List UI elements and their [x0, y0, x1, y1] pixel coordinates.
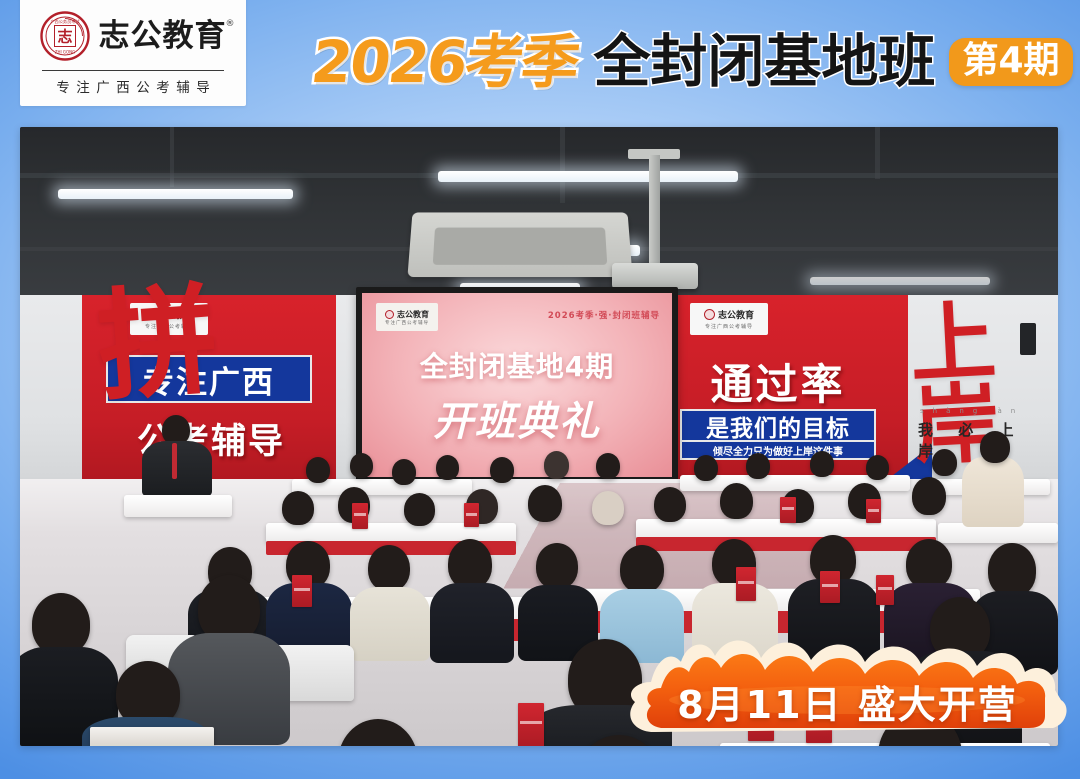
- svg-text:志: 志: [57, 28, 72, 46]
- seal-icon: [385, 310, 394, 319]
- brand-name: 志公教育 ®: [99, 21, 227, 52]
- student-head: [654, 487, 686, 522]
- student-head: [596, 453, 620, 479]
- headline-main: 全封闭基地班: [593, 34, 935, 91]
- tube-light: [438, 171, 738, 182]
- mural-right-pinyin: shàng àn: [920, 407, 1024, 415]
- gift-box: [780, 497, 796, 523]
- student-head: [932, 449, 957, 476]
- wall-right-line2: 是我们的目标: [680, 409, 876, 442]
- brand-logo-row: 广西公务员考试 志 ZHI GONG 志公教育 ®: [40, 8, 227, 64]
- student-head: [620, 545, 664, 593]
- gift-box: [866, 499, 881, 523]
- registered-mark: ®: [226, 20, 236, 29]
- brand-tagline: 专注广西公考辅导: [50, 76, 217, 96]
- slide-subtitle: 开班典礼: [362, 389, 672, 447]
- student-head: [592, 491, 624, 525]
- slide: 志公教育 专注广西公考辅导 2026考季·强·封闭班辅导 全封闭基地4期 开班典…: [362, 293, 672, 477]
- student-head: [368, 545, 410, 591]
- slide-logo-sub: 专注广西公考辅导: [385, 320, 429, 326]
- banner-logo-sub: 专注广西公考辅导: [705, 323, 753, 330]
- mural-left-text: 拼: [94, 283, 222, 405]
- student-head: [810, 451, 834, 477]
- student-head: [404, 493, 435, 526]
- desk-skirt: [636, 537, 936, 551]
- slide-title: 全封闭基地4期: [362, 345, 672, 385]
- gift-box: [820, 571, 840, 603]
- student-head: [306, 457, 330, 483]
- student-head: [544, 451, 569, 479]
- student-head: [536, 543, 578, 589]
- slide-corner-tagline: 2026考季·强·封闭班辅导: [548, 309, 660, 321]
- student-head: [694, 455, 718, 481]
- student-head: [746, 453, 770, 479]
- projector-mount-pole: [649, 155, 660, 267]
- slide-logo: 志公教育 专注广西公考辅导: [376, 303, 438, 331]
- student-head: [988, 543, 1036, 597]
- student-body: [430, 583, 514, 663]
- student-head: [392, 459, 416, 485]
- projector-screen: 志公教育 专注广西公考辅导 2026考季·强·封闭班辅导 全封闭基地4期 开班典…: [356, 287, 678, 483]
- student-head: [448, 539, 492, 589]
- tube-light: [810, 277, 990, 285]
- headline-year: 2026考季: [308, 33, 581, 91]
- wall-right-line1: 通过率: [678, 351, 878, 412]
- podium-desk: [124, 495, 232, 517]
- student-head: [436, 455, 459, 480]
- seal-icon: [704, 309, 715, 320]
- student-head: [32, 593, 90, 655]
- banner-logo-name: 志公教育: [718, 308, 754, 321]
- footer-badge-label: 8月11日 盛大开营: [615, 628, 1080, 754]
- student-head: [528, 485, 562, 522]
- gift-box: [518, 703, 544, 746]
- headline-edition-badge: 第4期: [949, 38, 1072, 86]
- instructor-body: [142, 441, 212, 497]
- student-body: [350, 587, 430, 661]
- student-head: [866, 455, 889, 480]
- svg-text:广西公务员考试: 广西公务员考试: [50, 18, 80, 25]
- wall-sensor: [1020, 323, 1036, 355]
- circular-red-seal-icon: 广西公务员考试 志 ZHI GONG: [40, 11, 90, 61]
- brand-name-text: 志公教育: [99, 18, 227, 54]
- banner-logo-right: 志公教育 专注广西公考辅导: [690, 303, 768, 335]
- projector: [612, 263, 698, 289]
- air-conditioner-unit: [407, 212, 632, 277]
- student-head: [350, 453, 373, 478]
- poster-canvas: 广西公务员考试 志 ZHI GONG 志公教育 ® 专注广西公考辅导 2026考…: [0, 0, 1080, 779]
- brand-logo-box: 广西公务员考试 志 ZHI GONG 志公教育 ® 专注广西公考辅导: [20, 0, 246, 106]
- student-head: [720, 483, 753, 519]
- svg-text:ZHI GONG: ZHI GONG: [54, 50, 75, 55]
- student-body: [962, 457, 1024, 527]
- tube-light: [58, 189, 293, 199]
- footer-badge: 8月11日 盛大开营: [615, 628, 1080, 754]
- stacked-books: [90, 727, 214, 746]
- divider: [42, 70, 224, 71]
- gift-box: [352, 503, 368, 529]
- student-head: [980, 431, 1010, 463]
- slide-logo-name: 志公教育: [397, 309, 429, 320]
- page-title: 2026考季 全封闭基地班 第4期: [312, 26, 1073, 98]
- student-head: [906, 539, 952, 589]
- student-head: [282, 491, 314, 525]
- gift-box: [736, 567, 756, 601]
- gift-box: [876, 575, 894, 605]
- instructor-lanyard: [172, 443, 177, 479]
- student-head: [912, 477, 946, 515]
- student-head: [490, 457, 514, 483]
- gift-box: [464, 503, 479, 527]
- gift-box: [292, 575, 312, 607]
